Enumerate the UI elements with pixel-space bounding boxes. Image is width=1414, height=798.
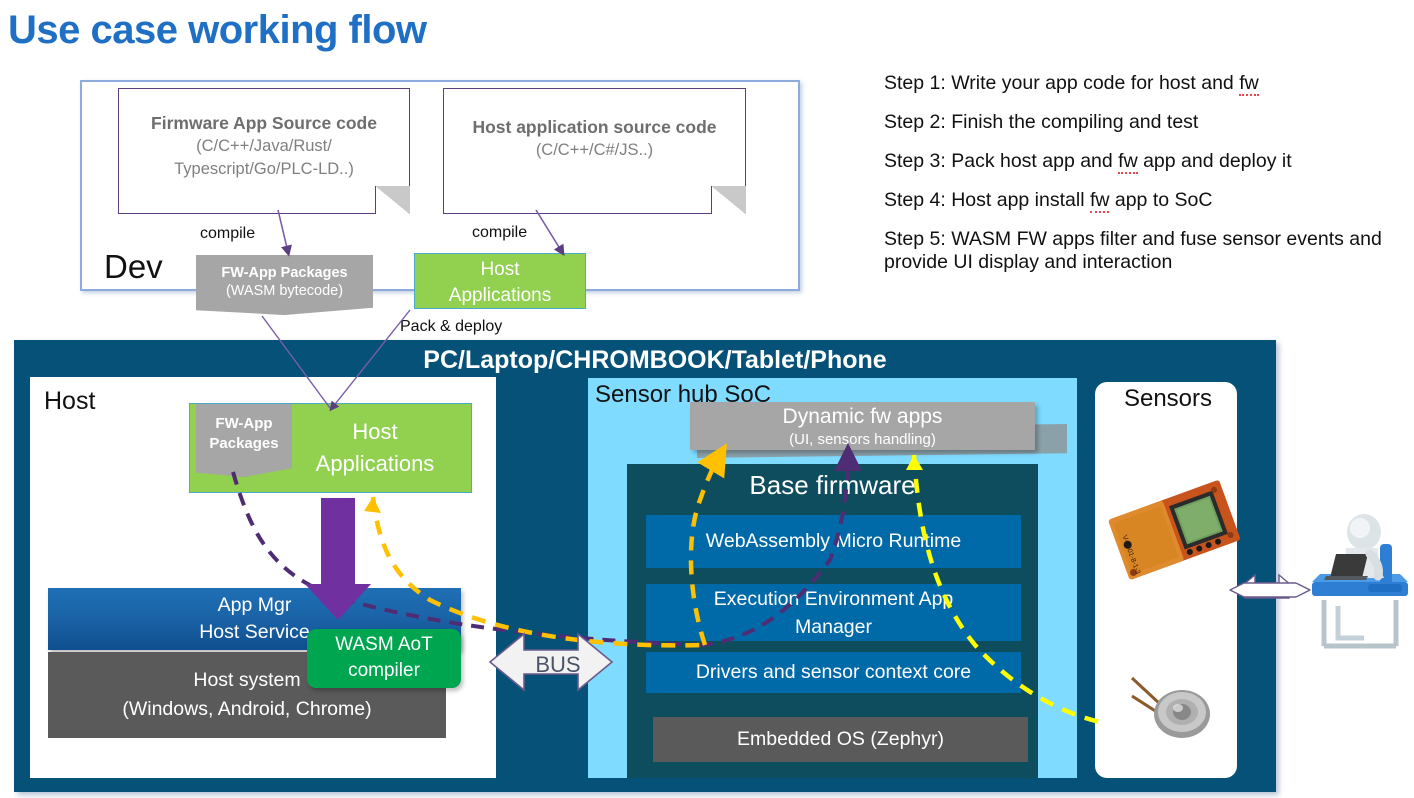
host-system-line2: (Windows, Android, Chrome)	[48, 695, 446, 724]
base-firmware-title: Base firmware	[627, 468, 1038, 502]
host-applications-dev-line1: Host	[415, 257, 585, 283]
page-title: Use case working flow	[8, 2, 768, 58]
host-applications-dev: Host Applications	[414, 253, 586, 309]
step-2-prefix: Step 2: Finish the compiling and test	[884, 111, 1198, 133]
firmware-source-langs-line2: Typescript/Go/PLC-LD..)	[119, 158, 409, 181]
wasm-aot-compiler-box: WASM AoT compiler	[307, 629, 461, 688]
host-applications-line2: Applications	[285, 448, 465, 480]
step-item-1: Step 1: Write your app code for host and…	[884, 72, 1404, 95]
compile-label-firmware: compile	[200, 225, 290, 247]
fw-row-drivers: Drivers and sensor context core	[646, 652, 1021, 693]
step-4-prefix: Step 4: Host app install	[884, 189, 1090, 211]
fw-row-app-manager: Execution Environment AppManager	[646, 584, 1021, 641]
step-1-squiggle: fw	[1239, 72, 1259, 96]
step-item-3: Step 3: Pack host app and fw app and dep…	[884, 150, 1404, 173]
host-applications-text: Host Applications	[285, 416, 465, 480]
page-fold-icon	[375, 186, 410, 214]
step-3-prefix: Step 3: Pack host app and	[884, 150, 1118, 172]
wasm-aot-line2: compiler	[307, 658, 461, 684]
dynamic-fw-apps-box: Dynamic fw apps (UI, sensors handling)	[690, 402, 1035, 450]
step-item-2: Step 2: Finish the compiling and test	[884, 111, 1404, 134]
fw-app-packages-dev-line1: FW-App Packages	[196, 255, 373, 282]
fw-app-packages-host-line2: Packages	[196, 434, 292, 454]
fw-app-packages-host: FW-App Packages	[196, 404, 292, 477]
user-at-desk-image	[1312, 514, 1408, 646]
step-3-suffix: app and deploy it	[1138, 150, 1292, 172]
host-applications-line1: Host	[285, 416, 465, 448]
step-5-prefix: Step 5: WASM FW apps filter and fuse sen…	[884, 228, 1382, 273]
host-applications-dev-line2: Applications	[415, 283, 585, 309]
fw-app-packages-dev: FW-App Packages (WASM bytecode)	[196, 255, 373, 315]
step-3-squiggle: fw	[1118, 150, 1138, 174]
fw-app-packages-host-line1: FW-App	[196, 404, 292, 434]
compile-label-host: compile	[472, 224, 562, 246]
fw-row-wamr: WebAssembly Micro Runtime	[646, 515, 1021, 568]
steps-list: Step 1: Write your app code for host and…	[884, 72, 1404, 312]
app-manager-line1: App Mgr	[48, 592, 461, 619]
step-4-squiggle: fw	[1090, 189, 1110, 213]
sensors-label: Sensors	[1108, 384, 1228, 414]
pack-deploy-label: Pack & deploy	[400, 318, 540, 340]
firmware-source-langs-line1: (C/C++/Java/Rust/	[119, 135, 409, 158]
page-fold-icon	[711, 186, 746, 214]
step-4-suffix: app to SoC	[1109, 189, 1212, 211]
host-source-title: Host application source code	[444, 89, 745, 139]
dynamic-fw-apps-line2: (UI, sensors handling)	[690, 430, 1035, 450]
dynamic-fw-apps-line1: Dynamic fw apps	[690, 402, 1035, 430]
step-1-prefix: Step 1: Write your app code for host and	[884, 72, 1239, 94]
host-source-card: Host application source code (C/C++/C#/J…	[443, 88, 746, 214]
host-label: Host	[44, 385, 184, 417]
fw-app-packages-dev-line2: (WASM bytecode)	[196, 282, 373, 300]
firmware-source-title: Firmware App Source code	[119, 89, 409, 135]
sensors-panel	[1095, 382, 1237, 778]
wasm-aot-line1: WASM AoT	[307, 632, 461, 658]
step-item-4: Step 4: Host app install fw app to SoC	[884, 189, 1404, 212]
platform-title: PC/Laptop/CHROMBOOK/Tablet/Phone	[330, 345, 980, 375]
fw-row-embedded-os: Embedded OS (Zephyr)	[653, 717, 1028, 762]
host-source-langs-line1: (C/C++/C#/JS..)	[444, 139, 745, 162]
step-item-5: Step 5: WASM FW apps filter and fuse sen…	[884, 228, 1384, 274]
firmware-source-card: Firmware App Source code (C/C++/Java/Rus…	[118, 88, 410, 214]
